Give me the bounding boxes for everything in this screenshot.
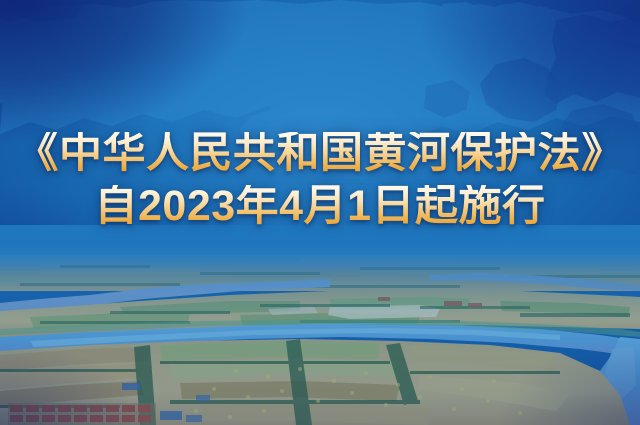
headline-line-2: 自2023年4月1日起施行 [0,185,640,228]
headline-line-1: 《中华人民共和国黄河保护法》 [0,132,640,175]
yellow-river-aerial-photo [0,225,640,425]
headline-block: 《中华人民共和国黄河保护法》 自2023年4月1日起施行 [0,132,640,228]
poster-image: 《中华人民共和国黄河保护法》 自2023年4月1日起施行 [0,0,640,425]
